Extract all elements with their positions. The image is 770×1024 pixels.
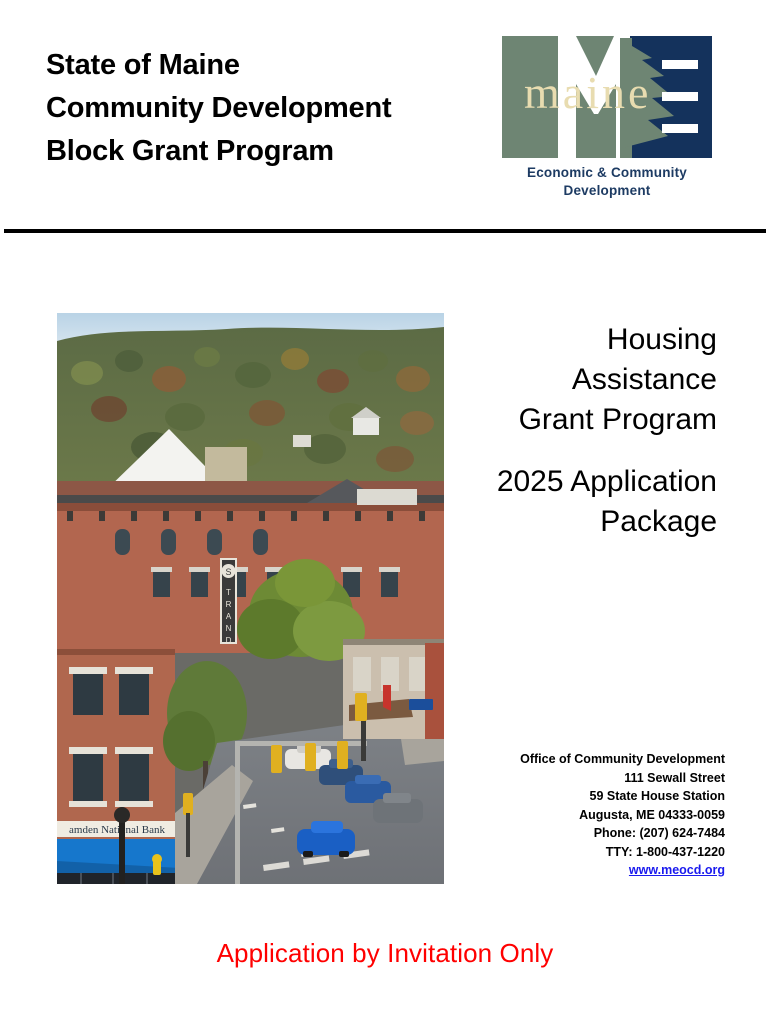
header-divider [4, 229, 766, 233]
svg-text:D: D [226, 636, 232, 645]
title-line-3: Block Grant Program [46, 130, 486, 173]
headline-line-3: Grant Program [420, 400, 717, 440]
document-page: State of Maine Community Development Blo… [0, 0, 770, 1024]
contact-phone: Phone: (207) 624-7484 [440, 824, 725, 843]
logo-caption-line-2: Development [487, 182, 727, 200]
logo-caption-line-1: Economic & Community [487, 164, 727, 182]
logo-caption: Economic & Community Development [487, 164, 727, 200]
contact-station: 59 State House Station [440, 787, 725, 806]
svg-text:N: N [226, 624, 232, 633]
svg-text:S: S [225, 567, 231, 577]
contact-block: Office of Community Development 111 Sewa… [440, 750, 725, 880]
svg-text:T: T [226, 588, 231, 597]
headline-line-2: Assistance [420, 360, 717, 400]
contact-tty: TTY: 1-800-437-1220 [440, 843, 725, 862]
contact-city-state-zip: Augusta, ME 04333-0059 [440, 806, 725, 825]
title-line-1: State of Maine [46, 44, 486, 87]
invitation-only-note: Application by Invitation Only [0, 938, 770, 969]
svg-text:A: A [226, 612, 232, 621]
logo-mark-icon: maine [502, 36, 712, 158]
contact-street: 111 Sewall Street [440, 769, 725, 788]
svg-text:R: R [226, 600, 232, 609]
svg-text:amden National Bank: amden National Bank [69, 824, 165, 836]
contact-office: Office of Community Development [440, 750, 725, 769]
headline-line-5: Package [420, 502, 717, 542]
program-headline: Housing Assistance Grant Program 2025 Ap… [420, 320, 717, 542]
svg-text:maine: maine [524, 67, 651, 118]
website-link[interactable]: www.meocd.org [629, 863, 725, 877]
headline-line-4: 2025 Application [420, 462, 717, 502]
contact-website-row: www.meocd.org [440, 861, 725, 880]
headline-line-1: Housing [420, 320, 717, 360]
headline-spacer [420, 440, 717, 462]
page-title: State of Maine Community Development Blo… [46, 44, 486, 173]
title-line-2: Community Development [46, 87, 486, 130]
cover-photograph: S T R A N D [57, 313, 444, 884]
maine-decd-logo: maine Economic & Community Development [487, 36, 727, 208]
